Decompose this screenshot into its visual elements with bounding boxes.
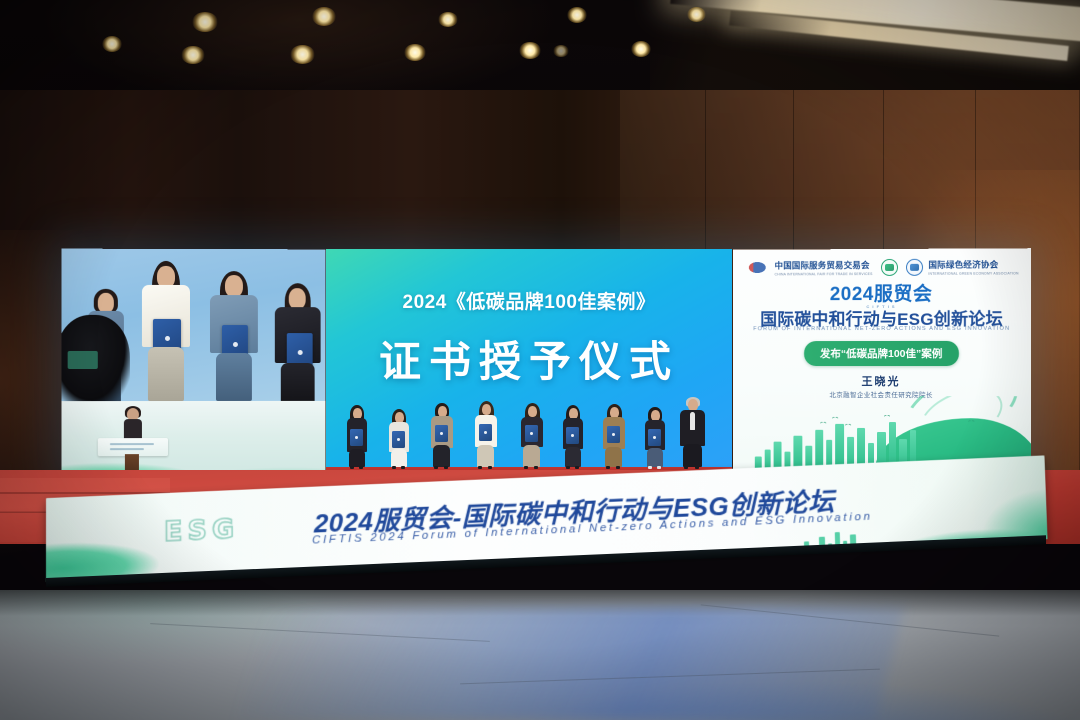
lower-body xyxy=(683,444,702,467)
head xyxy=(289,288,306,309)
slide-speaker-name: 王晓光 xyxy=(733,373,1031,389)
camera-body xyxy=(68,351,98,369)
certificate xyxy=(479,424,492,441)
right-slide-panel: 中国国际服务贸易交易会 CHINA INTERNATIONAL FAIR FOR… xyxy=(733,248,1031,481)
center-title-panel: 2024《低碳品牌100佳案例》 证书授予仪式 xyxy=(326,249,732,480)
lower-body xyxy=(523,445,540,467)
panda-badge-icon xyxy=(881,258,898,275)
shoe xyxy=(488,466,492,469)
feed-recipient xyxy=(208,271,260,401)
shoe xyxy=(392,466,396,469)
ciftis-logo-text: 中国国际服务贸易交易会 CHINA INTERNATIONAL FAIR FOR… xyxy=(775,259,873,276)
ceiling-spotlight xyxy=(312,7,336,26)
igea-logo-en: INTERNATIONAL GREEN ECONOMY ASSOCIATION xyxy=(928,271,1018,275)
video-feed-recipients xyxy=(62,249,326,401)
lower-body xyxy=(216,353,252,401)
award-recipients-group xyxy=(326,400,732,480)
ceiling-spotlight xyxy=(519,42,541,59)
slide-topic-pill: 发布“低碳品牌100佳”案例 xyxy=(804,341,958,366)
certificate xyxy=(525,425,538,442)
center-title-line2: 证书授予仪式 xyxy=(379,328,679,389)
building xyxy=(815,430,823,470)
ceiling-spotlight xyxy=(631,41,651,57)
bird-icon xyxy=(884,415,890,418)
ciftis-logo-en: CHINA INTERNATIONAL FAIR FOR TRADE IN SE… xyxy=(775,272,873,276)
shoe xyxy=(350,466,354,469)
shoe xyxy=(575,466,579,469)
head xyxy=(225,275,243,297)
shoe xyxy=(648,466,652,469)
certificate xyxy=(607,426,620,443)
shoe xyxy=(401,466,405,469)
igea-logo: 国际绿色经济协会 INTERNATIONAL GREEN ECONOMY ASS… xyxy=(906,258,1018,276)
shoe xyxy=(616,466,620,469)
shoe xyxy=(524,466,528,469)
recipient xyxy=(386,409,412,467)
ciftis-mark-icon xyxy=(745,260,770,276)
shirt xyxy=(690,412,695,430)
ceiling-spotlight xyxy=(192,12,218,32)
shoe xyxy=(534,466,538,469)
lower-body xyxy=(148,347,184,401)
bird-icon xyxy=(845,424,851,427)
igea-logo-cn: 国际绿色经济协会 xyxy=(928,258,1018,270)
feed-recipient xyxy=(274,283,322,401)
building xyxy=(793,436,802,470)
certificate xyxy=(566,427,579,444)
slide-logo-row: 中国国际服务贸易交易会 CHINA INTERNATIONAL FAIR FOR… xyxy=(733,253,1031,280)
shoe xyxy=(606,466,610,469)
ceiling-spotlight xyxy=(102,36,122,52)
building xyxy=(774,442,782,470)
ceiling-spotlight xyxy=(404,44,426,61)
recipient xyxy=(642,407,668,467)
video-feed-podium xyxy=(62,401,326,480)
recipient xyxy=(600,404,628,467)
slide-year-text: 2024服贸会 xyxy=(830,284,933,305)
lectern-text-line xyxy=(110,443,154,445)
ceiling-spotlight xyxy=(687,7,706,22)
shoe xyxy=(359,466,363,469)
bird-icon xyxy=(820,422,826,425)
shoe xyxy=(695,466,699,469)
lower-body xyxy=(391,449,407,467)
recipient xyxy=(428,403,456,467)
building xyxy=(835,424,844,470)
ceiling-spotlight xyxy=(290,45,315,64)
shoe xyxy=(684,466,688,469)
head xyxy=(528,406,537,417)
center-title-line1: 2024《低碳品牌100佳案例》 xyxy=(403,287,656,314)
ciftis-logo: 中国国际服务贸易交易会 CHINA INTERNATIONAL FAIR FOR… xyxy=(745,259,873,276)
shoe xyxy=(434,466,438,469)
ceiling-spotlight xyxy=(438,12,458,27)
ciftis-logo-cn: 中国国际服务贸易交易会 xyxy=(775,259,873,271)
host-figure xyxy=(120,408,146,442)
certificate xyxy=(648,429,661,446)
led-screen-wall: 2024《低碳品牌100佳案例》 证书授予仪式 xyxy=(62,249,1030,480)
feed-recipient xyxy=(140,261,192,401)
bird-icon xyxy=(968,420,974,423)
ceiling-truss-light xyxy=(553,45,569,57)
recipient xyxy=(472,401,500,467)
camera-operator-silhouette xyxy=(62,315,130,401)
head xyxy=(482,404,491,415)
lectern-text-line xyxy=(110,448,144,450)
green-panda-logo xyxy=(881,258,898,275)
lower-body xyxy=(565,447,581,467)
recipient xyxy=(518,403,546,467)
slide-heading-en: FORUM OF INTERNATIONAL NET-ZERO ACTIONS … xyxy=(733,326,1031,332)
lower-body xyxy=(349,449,365,467)
stage-deck: ESG 2024服贸会-国际碳中和行动与ESG创新论坛 CIFTIS 2024 … xyxy=(0,470,1080,602)
certificate xyxy=(435,425,448,442)
certificate xyxy=(350,429,363,446)
left-video-feed-panel xyxy=(62,249,326,481)
shoe xyxy=(657,466,661,469)
auditorium-scene: 2024《低碳品牌100佳案例》 证书授予仪式 xyxy=(0,0,1080,720)
lower-body xyxy=(477,445,494,467)
lower-body xyxy=(605,447,622,467)
banner-esg-wordmark: ESG xyxy=(164,514,239,548)
igea-badge-icon xyxy=(906,258,923,275)
lower-body xyxy=(281,363,315,401)
host-at-podium xyxy=(98,408,168,474)
ceiling-spotlight xyxy=(567,7,587,23)
recipient xyxy=(344,405,370,467)
recipient xyxy=(560,405,586,467)
ceiling-spotlight xyxy=(181,46,205,64)
lower-body xyxy=(647,448,663,467)
foreground-floor xyxy=(0,590,1080,720)
certificate xyxy=(392,431,405,448)
shoe xyxy=(444,466,448,469)
lower-body xyxy=(433,445,450,467)
igea-logo-text: 国际绿色经济协会 INTERNATIONAL GREEN ECONOMY ASS… xyxy=(928,258,1018,275)
presenter xyxy=(678,397,708,467)
blue-light-reflection xyxy=(236,608,904,720)
shoe xyxy=(478,466,482,469)
bird-icon xyxy=(832,417,838,420)
shoe xyxy=(566,466,570,469)
